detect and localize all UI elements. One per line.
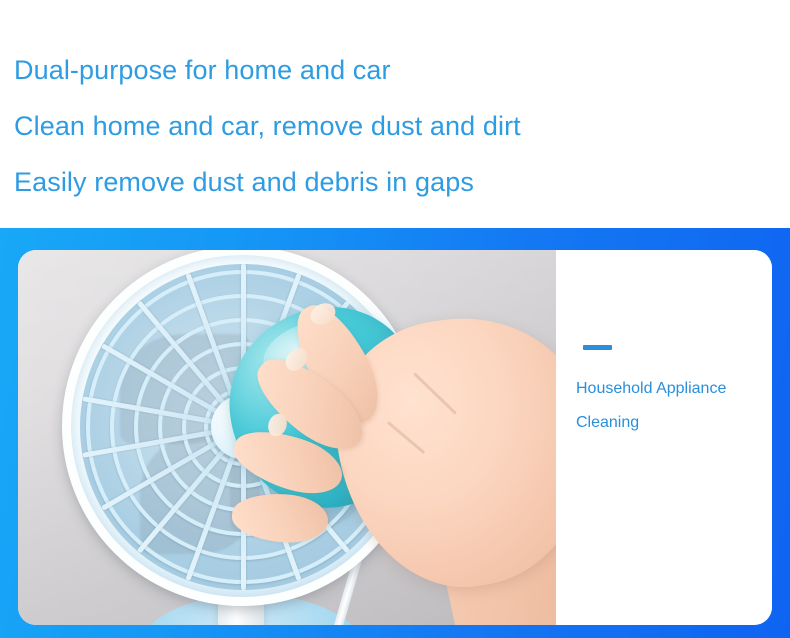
hand xyxy=(286,294,556,625)
product-photo xyxy=(18,250,556,625)
feature-card: Household Appliance Cleaning xyxy=(18,250,772,625)
dash-accent-icon xyxy=(583,345,612,350)
info-panel: Household Appliance Cleaning xyxy=(556,250,772,625)
headline-block: Dual-purpose for home and car Clean home… xyxy=(0,0,790,228)
headline-line-2: Clean home and car, remove dust and dirt xyxy=(14,98,790,154)
headline-line-1: Dual-purpose for home and car xyxy=(14,42,790,98)
info-panel-title: Household Appliance Cleaning xyxy=(576,372,772,440)
headline-line-3: Easily remove dust and debris in gaps xyxy=(14,154,790,210)
blue-gradient-banner: Household Appliance Cleaning xyxy=(0,228,790,638)
